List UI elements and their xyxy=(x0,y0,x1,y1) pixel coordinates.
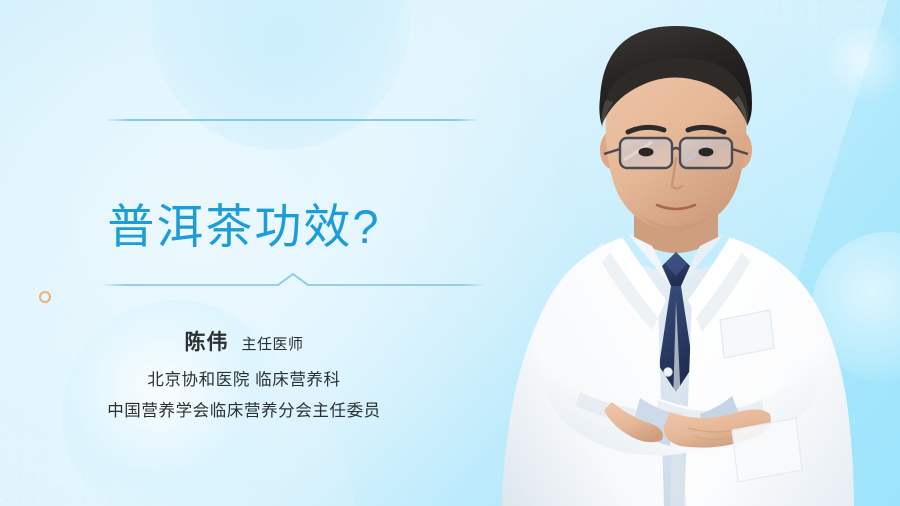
doctor-qa-thumbnail-card: 普洱茶功效? 陈伟主任医师 北京协和医院 临床营养科 中国营养学会 xyxy=(0,0,900,506)
credential-line-name: 陈伟主任医师 xyxy=(0,326,488,356)
text-content-column: 普洱茶功效? 陈伟主任医师 北京协和医院 临床营养科 中国营养学会 xyxy=(0,0,520,506)
doctor-society-role: 中国营养学会临床营养分会主任委员 xyxy=(0,396,488,427)
doctor-hospital-department: 北京协和医院 临床营养科 xyxy=(0,365,488,396)
doctor-portrait-photo xyxy=(452,0,900,506)
page-title: 普洱茶功效? xyxy=(0,199,520,255)
doctor-professional-title: 主任医师 xyxy=(241,336,303,353)
doctor-credentials: 陈伟主任医师 北京协和医院 临床营养科 中国营养学会临床营养分会主任委员 xyxy=(0,326,520,426)
bottom-divider xyxy=(100,268,486,292)
top-divider xyxy=(107,119,477,121)
doctor-name: 陈伟 xyxy=(184,331,228,354)
